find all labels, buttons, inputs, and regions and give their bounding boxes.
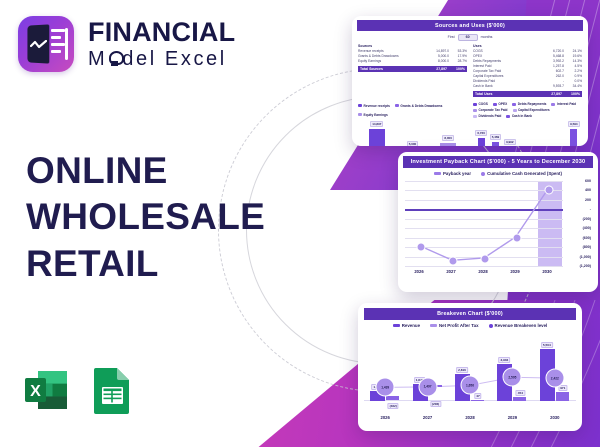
legend-label: Debts Repayments bbox=[518, 102, 547, 106]
legend-swatch-revenue bbox=[393, 324, 400, 327]
x-tick-label: 2028 bbox=[465, 415, 474, 420]
npat-value-label: (462) bbox=[388, 403, 399, 409]
card-sources-and-uses[interactable]: Sources and Uses ($'000) First 60 months… bbox=[352, 16, 588, 146]
period-suffix-label: months bbox=[481, 35, 493, 39]
breakeven-legend: Revenue Net Profit After Tax Revenue Bre… bbox=[364, 320, 576, 330]
payback-plot-area: 600400200-(200)(400)(600)(800)(1,000)(1,… bbox=[405, 181, 593, 266]
y-tick-label: 400 bbox=[585, 188, 591, 192]
sources-chart-legend: Revenue receiptsGrants & Debts Drawdowns… bbox=[358, 99, 467, 118]
x-tick-label: 2028 bbox=[478, 269, 487, 274]
legend-item: Grants & Debts Drawdowns bbox=[395, 102, 442, 109]
brand-subtitle-after: del Excel bbox=[122, 49, 227, 69]
legend-swatch bbox=[473, 115, 477, 118]
use-row-pct: 34.4% bbox=[564, 84, 582, 89]
x-tick-label: 2026 bbox=[414, 269, 423, 274]
sources-total-row: Total Sources 27,897 100% bbox=[358, 66, 467, 72]
legend-label: Dividends Paid bbox=[479, 114, 502, 118]
breakeven-level-bubble: 1,497 bbox=[418, 377, 437, 396]
legend-swatch bbox=[506, 115, 510, 118]
uses-total-row: Total Uses 27,897 100% bbox=[473, 91, 582, 97]
npat-bar bbox=[513, 397, 526, 401]
x-tick-label: 2030 bbox=[550, 415, 559, 420]
data-point bbox=[449, 257, 458, 266]
legend-swatch-bar bbox=[434, 172, 441, 175]
payback-x-axis-labels: 20262027202820292030 bbox=[403, 266, 563, 278]
y-tick-label: - bbox=[590, 207, 591, 211]
legend-npat-label: Net Profit After Tax bbox=[439, 323, 479, 328]
legend-swatch-line bbox=[481, 172, 485, 176]
breakeven-x-axis-labels: 20262027202820292030 bbox=[364, 415, 576, 427]
lightbulb-icon bbox=[108, 51, 121, 67]
period-prefix-label: First bbox=[448, 35, 455, 39]
x-tick-label: 2029 bbox=[508, 415, 517, 420]
bar-item: 5,000 bbox=[403, 120, 421, 146]
legend-breakeven-label: Revenue Breakeven level bbox=[495, 323, 548, 328]
bar-value-label: 6,720 bbox=[475, 130, 487, 136]
legend-label: Interest Paid bbox=[557, 102, 576, 106]
sources-rows: Revenue receipts14,897.053.3%Grants & De… bbox=[358, 49, 467, 64]
legend-revenue: Revenue bbox=[393, 323, 420, 328]
uses-rows: COGS6,720.024.1%OPEX5,468.819.6%Debts Re… bbox=[473, 49, 582, 90]
legend-item: Capital Expenditures bbox=[513, 108, 550, 112]
bar-item: 603 bbox=[533, 120, 542, 146]
revenue-value-label: 2,816 bbox=[456, 367, 468, 373]
legend-label: COGS bbox=[479, 102, 488, 106]
legend-swatch bbox=[358, 104, 362, 107]
bar bbox=[368, 128, 386, 146]
legend-swatch bbox=[473, 109, 477, 112]
svg-text:X: X bbox=[30, 383, 41, 400]
legend-swatch bbox=[473, 103, 477, 106]
legend-label: Revenue receipts bbox=[364, 104, 390, 108]
breakeven-level-bubble: 1,439 bbox=[376, 378, 395, 397]
npat-value-label: (206) bbox=[430, 401, 441, 407]
legend-label: Equity Earnings bbox=[364, 113, 388, 117]
legend-label: OPEX bbox=[498, 102, 507, 106]
breakeven-level-bubble: 2,505 bbox=[503, 368, 522, 387]
legend-payback-year-label: Payback year bbox=[443, 171, 471, 176]
sources-total-value: 27,897 bbox=[421, 67, 447, 71]
sources-total-pct: 100% bbox=[447, 67, 465, 71]
headline-line-2: WHOLESALE bbox=[26, 194, 265, 240]
bar-item: 5,469 bbox=[490, 120, 502, 146]
uses-table: Uses COGS6,720.024.1%OPEX5,468.819.6%Deb… bbox=[473, 44, 582, 98]
period-value-input[interactable]: 60 bbox=[458, 34, 478, 41]
use-row-value: 9,593.7 bbox=[538, 84, 564, 89]
source-row-pct: 28.7% bbox=[449, 59, 467, 64]
legend-swatch bbox=[512, 103, 516, 106]
brand-title: FINANCIAL bbox=[88, 19, 235, 46]
legend-swatch bbox=[493, 103, 497, 106]
legend-item: Cash in Bank bbox=[506, 114, 532, 118]
bar-item: 9,594 bbox=[568, 120, 580, 146]
bar-item: 8,000 bbox=[439, 120, 457, 146]
payback-cumulative-line bbox=[405, 181, 563, 265]
payback-legend: Payback year Cumulative Cash Generated (… bbox=[403, 168, 593, 178]
sources-bar-chart: 14,8975,0008,000 bbox=[359, 120, 466, 146]
y-tick-label: (1,000) bbox=[580, 255, 591, 259]
financial-model-excel-logo-icon bbox=[18, 16, 74, 72]
x-tick-label: 2030 bbox=[542, 269, 551, 274]
microsoft-excel-icon: X bbox=[22, 366, 70, 414]
bar-value-label: 9,594 bbox=[568, 121, 580, 127]
y-tick-label: (600) bbox=[583, 236, 591, 240]
data-point bbox=[417, 243, 426, 252]
bar-item: - bbox=[556, 120, 565, 146]
legend-label: Corporate Tax Paid bbox=[479, 108, 508, 112]
legend-label: Grants & Debts Drawdowns bbox=[400, 104, 442, 108]
bar-value-label: 8,000 bbox=[442, 135, 454, 141]
npat-bar bbox=[471, 400, 484, 402]
headline-line-3: RETAIL bbox=[26, 241, 265, 287]
legend-item: Dividends Paid bbox=[473, 114, 501, 118]
sources-heading: Sources bbox=[358, 44, 467, 48]
uses-heading: Uses bbox=[473, 44, 582, 48]
sources-uses-legends: Revenue receiptsGrants & Debts Drawdowns… bbox=[357, 99, 583, 118]
uses-total-label: Total Uses bbox=[475, 92, 536, 96]
uses-bar-chart: 6,7205,4693,9921,258603262-9,594 bbox=[474, 120, 581, 146]
sources-total-label: Total Sources bbox=[360, 67, 421, 71]
source-row-name: Equity Earnings bbox=[358, 59, 423, 64]
brand-wordmark: FINANCIAL M del Excel bbox=[88, 19, 235, 69]
y-tick-label: 200 bbox=[585, 198, 591, 202]
sources-uses-tables: Sources Revenue receipts14,897.053.3%Gra… bbox=[357, 44, 583, 98]
sources-period-control[interactable]: First 60 months bbox=[357, 31, 583, 44]
chart-squiggle-icon bbox=[30, 40, 47, 49]
y-tick-label: 600 bbox=[585, 179, 591, 183]
legend-npat: Net Profit After Tax bbox=[430, 323, 479, 328]
legend-item: COGS bbox=[473, 102, 488, 106]
legend-item: Debts Repayments bbox=[512, 102, 546, 106]
legend-cumulative-cash: Cumulative Cash Generated (Spent) bbox=[481, 171, 562, 176]
legend-breakeven-level: Revenue Breakeven level bbox=[489, 323, 548, 328]
breakeven-level-bubble: 1,656 bbox=[461, 376, 480, 395]
brand-subtitle-before: M bbox=[88, 49, 107, 69]
data-point bbox=[513, 233, 522, 242]
logo-bracket-bar bbox=[65, 28, 68, 60]
legend-cumulative-cash-label: Cumulative Cash Generated (Spent) bbox=[487, 171, 562, 176]
bar bbox=[569, 128, 578, 146]
legend-item: OPEX bbox=[493, 102, 507, 106]
data-point bbox=[481, 254, 490, 263]
bar-item: 3,992 bbox=[504, 120, 516, 146]
legend-item: Equity Earnings bbox=[358, 111, 388, 118]
y-tick-label: (1,200) bbox=[580, 264, 591, 268]
x-tick-label: 2029 bbox=[510, 269, 519, 274]
bar bbox=[439, 142, 457, 146]
breakeven-level-bubble: 2,422 bbox=[545, 369, 564, 388]
sources-uses-charts: 14,8975,0008,000 6,7205,4693,9921,258603… bbox=[357, 118, 583, 146]
y-tick-label: (200) bbox=[583, 217, 591, 221]
uses-chart-legend: COGSOPEXDebts RepaymentsInterest PaidCor… bbox=[473, 99, 582, 118]
source-row-value: 8,000.0 bbox=[423, 59, 449, 64]
legend-payback-year: Payback year bbox=[434, 171, 471, 176]
bar-item: 14,897 bbox=[368, 120, 386, 146]
y-tick-label: (800) bbox=[583, 245, 591, 249]
breakeven-plot-area: 1,040(462)1,4391,848(206)1,4972,816471,6… bbox=[364, 333, 576, 415]
poster-canvas: FINANCIAL M del Excel ONLINE WHOLESALE R… bbox=[0, 0, 600, 447]
revenue-value-label: 5,504 bbox=[541, 342, 553, 348]
uses-total-value: 27,897 bbox=[536, 92, 562, 96]
card-title-investment-payback: Investment Payback Chart ($'000) - 5 Yea… bbox=[403, 156, 593, 168]
npat-value-label: 454 bbox=[516, 390, 525, 396]
bar-value-label: 5,469 bbox=[490, 134, 502, 140]
legend-swatch bbox=[551, 103, 555, 106]
legend-swatch bbox=[358, 113, 362, 116]
data-point bbox=[545, 186, 554, 195]
revenue-value-label: 3,904 bbox=[499, 357, 511, 363]
bar-value-label: 14,897 bbox=[370, 121, 383, 127]
legend-label: Cash in Bank bbox=[512, 114, 532, 118]
google-sheets-icon bbox=[90, 366, 135, 414]
legend-swatch-npat bbox=[430, 324, 437, 327]
card-investment-payback[interactable]: Investment Payback Chart ($'000) - 5 Yea… bbox=[398, 152, 598, 292]
brand-logo: FINANCIAL M del Excel bbox=[18, 16, 235, 72]
card-title-sources-and-uses: Sources and Uses ($'000) bbox=[357, 20, 583, 31]
legend-item: Interest Paid bbox=[551, 102, 576, 106]
legend-item: Revenue receipts bbox=[358, 102, 390, 109]
headline-line-1: ONLINE bbox=[26, 148, 265, 194]
legend-revenue-label: Revenue bbox=[402, 323, 420, 328]
sources-table: Sources Revenue receipts14,897.053.3%Gra… bbox=[358, 44, 467, 98]
page-title: ONLINE WHOLESALE RETAIL bbox=[26, 148, 265, 287]
x-tick-label: 2026 bbox=[381, 415, 390, 420]
y-tick-label: (400) bbox=[583, 226, 591, 230]
npat-bar bbox=[556, 392, 569, 401]
legend-item: Corporate Tax Paid bbox=[473, 108, 508, 112]
use-row-name: Cash in Bank bbox=[473, 84, 538, 89]
app-format-icons: X bbox=[22, 366, 135, 414]
list-lines-icon bbox=[51, 29, 66, 59]
legend-swatch bbox=[513, 109, 517, 112]
bar bbox=[477, 137, 486, 146]
x-tick-label: 2027 bbox=[423, 415, 432, 420]
card-breakeven[interactable]: Breakeven Chart ($'000) Revenue Net Prof… bbox=[358, 303, 582, 431]
npat-value-label: 47 bbox=[474, 393, 481, 399]
legend-swatch bbox=[395, 104, 399, 107]
bar-value-label: 5,000 bbox=[407, 141, 419, 146]
table-row: Equity Earnings8,000.028.7% bbox=[358, 59, 467, 64]
x-tick-label: 2027 bbox=[446, 269, 455, 274]
bar bbox=[491, 141, 500, 146]
bar-value-label: 3,992 bbox=[504, 139, 516, 145]
payback-y-axis-labels: 600400200-(200)(400)(600)(800)(1,000)(1,… bbox=[565, 181, 593, 266]
legend-swatch-breakeven bbox=[489, 324, 493, 328]
table-row: Cash in Bank9,593.734.4% bbox=[473, 84, 582, 89]
legend-label: Capital Expenditures bbox=[518, 108, 550, 112]
bar-item: 6,720 bbox=[475, 120, 487, 146]
card-title-breakeven: Breakeven Chart ($'000) bbox=[364, 308, 576, 320]
bar-item: 1,258 bbox=[518, 120, 530, 146]
bar-item: 262 bbox=[544, 120, 553, 146]
uses-total-pct: 100% bbox=[562, 92, 580, 96]
brand-subtitle: M del Excel bbox=[88, 49, 235, 69]
